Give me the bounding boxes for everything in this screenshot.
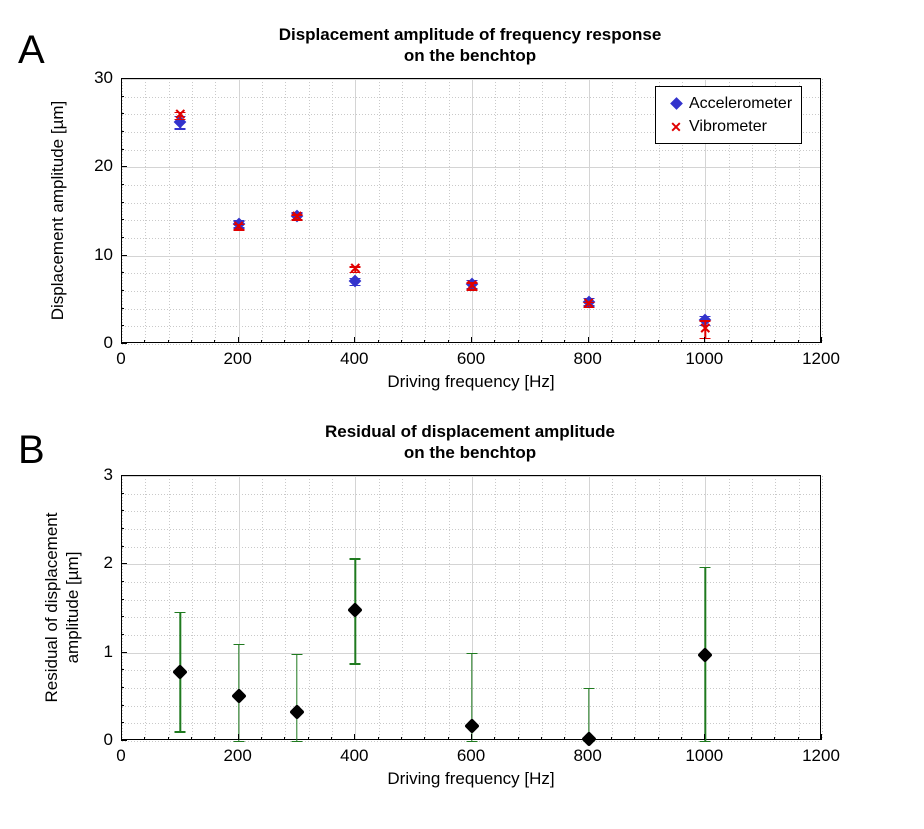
gridline-minor-horizontal — [122, 344, 820, 345]
gridline-minor-vertical — [332, 79, 333, 342]
gridline-minor-horizontal — [122, 582, 820, 583]
gridline-major-horizontal — [122, 79, 820, 80]
error-bar-cap-lower — [175, 128, 186, 129]
x-axis-tick — [238, 734, 239, 740]
gridline-minor-horizontal — [122, 494, 820, 495]
figure-root: A Displacement amplitude of frequency re… — [0, 0, 924, 829]
x-axis-tick-minor — [214, 737, 215, 740]
panel-a-title: Displacement amplitude of frequency resp… — [120, 24, 820, 67]
error-bar-cap-lower — [700, 741, 711, 742]
gridline-minor-vertical — [425, 79, 426, 342]
x-axis-tick-label: 1000 — [685, 349, 723, 369]
x-axis-tick — [354, 734, 355, 740]
x-axis-tick-minor — [728, 737, 729, 740]
gridline-minor-horizontal — [122, 617, 820, 618]
y-axis-tick-minor — [121, 510, 124, 511]
x-axis-tick-minor — [401, 737, 402, 740]
gridline-minor-vertical — [449, 79, 450, 342]
gridline-minor-vertical — [145, 79, 146, 342]
y-axis-tick-minor — [121, 581, 124, 582]
error-bar-cap-lower — [175, 731, 186, 732]
panel-b-title: Residual of displacement amplitude on th… — [120, 421, 820, 464]
gridline-minor-vertical — [682, 476, 683, 739]
data-point-vibrometer: ✕ — [349, 261, 362, 276]
x-axis-tick-minor — [518, 737, 519, 740]
y-axis-tick-minor — [121, 634, 124, 635]
panel-a-letter: A — [18, 30, 45, 70]
gridline-minor-vertical — [635, 476, 636, 739]
error-bar-cap-upper — [233, 644, 244, 645]
x-axis-tick-minor — [448, 340, 449, 343]
y-axis-tick-minor — [121, 219, 124, 220]
diamond-marker-icon — [663, 96, 689, 112]
y-axis-tick-minor — [121, 308, 124, 309]
error-bar-cap-upper — [350, 558, 361, 559]
x-axis-tick — [471, 734, 472, 740]
panel-b-xlabel: Driving frequency [Hz] — [121, 769, 821, 789]
data-point-residual — [231, 688, 247, 704]
x-axis-tick-minor — [751, 737, 752, 740]
error-bar-cap-lower — [467, 741, 478, 742]
error-bar-cap-lower — [233, 741, 244, 742]
x-axis-tick-minor — [611, 340, 612, 343]
x-axis-tick-minor — [728, 340, 729, 343]
gridline-minor-horizontal — [122, 238, 820, 239]
x-axis-tick — [588, 734, 589, 740]
y-axis-tick-minor — [121, 272, 124, 273]
data-point-vibrometer: ✕ — [291, 209, 304, 224]
x-axis-tick — [821, 734, 822, 740]
x-axis-tick-minor — [168, 737, 169, 740]
y-axis-tick-minor — [121, 166, 124, 167]
gridline-minor-vertical — [565, 79, 566, 342]
y-axis-tick-minor — [121, 722, 124, 723]
gridline-minor-vertical — [122, 79, 123, 342]
error-bar-cap-upper — [583, 688, 594, 689]
x-axis-tick-minor — [331, 737, 332, 740]
x-axis-tick-minor — [774, 340, 775, 343]
panel-b-ylabel: Residual of displacement amplitude [µm] — [42, 475, 83, 740]
y-axis-tick-minor — [121, 184, 124, 185]
x-axis-tick-minor — [798, 737, 799, 740]
panel-a-xlabel: Driving frequency [Hz] — [121, 372, 821, 392]
gridline-major-vertical — [355, 79, 356, 342]
gridline-minor-vertical — [822, 476, 823, 739]
gridline-minor-vertical — [402, 476, 403, 739]
gridline-minor-vertical — [379, 476, 380, 739]
data-point-vibrometer: ✕ — [466, 278, 479, 293]
gridline-minor-vertical — [752, 476, 753, 739]
y-axis-tick-minor — [121, 493, 124, 494]
y-axis-tick-label: 3 — [63, 465, 113, 485]
x-axis-tick-minor — [774, 737, 775, 740]
gridline-minor-horizontal — [122, 309, 820, 310]
y-axis-tick-minor — [121, 669, 124, 670]
y-axis-tick-minor — [121, 131, 124, 132]
y-axis-tick-label: 30 — [63, 68, 113, 88]
x-axis-tick-minor — [494, 737, 495, 740]
y-axis-tick-minor — [121, 616, 124, 617]
x-axis-tick-minor — [424, 737, 425, 740]
legend-item-accelerometer[interactable]: Accelerometer — [663, 92, 792, 115]
x-axis-tick-minor — [518, 340, 519, 343]
x-axis-tick-minor — [681, 340, 682, 343]
gridline-minor-horizontal — [122, 203, 820, 204]
gridline-minor-vertical — [799, 476, 800, 739]
gridline-minor-horizontal — [122, 511, 820, 512]
gridline-minor-vertical — [262, 476, 263, 739]
panel-a: A Displacement amplitude of frequency re… — [0, 0, 924, 414]
x-axis-tick-minor — [564, 737, 565, 740]
data-point-vibrometer: ✕ — [232, 219, 245, 234]
panel-b-ylabel-line2: amplitude [µm] — [63, 475, 84, 740]
panel-b-title-line1: Residual of displacement amplitude — [120, 421, 820, 442]
x-axis-tick-minor — [681, 737, 682, 740]
gridline-minor-vertical — [519, 476, 520, 739]
gridline-minor-vertical — [635, 79, 636, 342]
x-axis-tick-label: 1200 — [802, 746, 840, 766]
gridline-minor-vertical — [612, 79, 613, 342]
gridline-minor-vertical — [332, 476, 333, 739]
gridline-minor-horizontal — [122, 220, 820, 221]
gridline-minor-vertical — [122, 476, 123, 739]
x-marker-icon: ✕ — [663, 119, 689, 135]
gridline-minor-vertical — [309, 476, 310, 739]
x-axis-tick-label: 200 — [223, 349, 251, 369]
gridline-minor-horizontal — [122, 547, 820, 548]
error-bar-cap-lower — [292, 741, 303, 742]
gridline-major-horizontal — [122, 167, 820, 168]
y-axis-tick-minor — [121, 652, 124, 653]
gridline-minor-vertical — [822, 79, 823, 342]
gridline-minor-vertical — [192, 79, 193, 342]
x-axis-tick-minor — [541, 737, 542, 740]
panel-b: B Residual of displacement amplitude on … — [0, 414, 924, 829]
legend-label: Accelerometer — [689, 95, 792, 113]
x-axis-tick-label: 200 — [223, 746, 251, 766]
y-axis-tick-minor — [121, 475, 124, 476]
panel-b-title-line2: on the benchtop — [120, 442, 820, 463]
y-axis-tick-minor — [121, 687, 124, 688]
x-axis-tick-minor — [378, 737, 379, 740]
x-axis-tick-label: 600 — [457, 746, 485, 766]
gridline-minor-vertical — [565, 476, 566, 739]
x-axis-tick-minor — [261, 737, 262, 740]
x-axis-tick-minor — [448, 737, 449, 740]
x-axis-tick-minor — [751, 340, 752, 343]
x-axis-tick-minor — [331, 340, 332, 343]
data-point-residual — [348, 602, 364, 618]
gridline-minor-vertical — [285, 476, 286, 739]
data-point-vibrometer: ✕ — [699, 321, 712, 336]
gridline-minor-horizontal — [122, 635, 820, 636]
x-axis-tick-minor — [168, 340, 169, 343]
x-axis-tick-minor — [658, 737, 659, 740]
x-axis-tick-label: 0 — [116, 349, 125, 369]
gridline-minor-vertical — [519, 79, 520, 342]
x-axis-tick-minor — [191, 340, 192, 343]
panel-b-letter: B — [18, 430, 45, 470]
y-axis-tick-minor — [121, 325, 124, 326]
y-axis-tick-minor — [121, 599, 124, 600]
x-axis-tick-minor — [634, 737, 635, 740]
panel-a-title-line2: on the benchtop — [120, 45, 820, 66]
gridline-minor-horizontal — [122, 600, 820, 601]
y-axis-tick-label: 0 — [63, 333, 113, 353]
x-axis-tick-label: 400 — [340, 349, 368, 369]
gridline-minor-vertical — [379, 79, 380, 342]
x-axis-tick-minor — [284, 737, 285, 740]
gridline-minor-vertical — [215, 476, 216, 739]
x-axis-tick-label: 800 — [573, 349, 601, 369]
gridline-minor-vertical — [729, 476, 730, 739]
gridline-minor-vertical — [402, 79, 403, 342]
panel-b-plot-area — [121, 475, 821, 740]
y-axis-tick-minor — [121, 705, 124, 706]
x-axis-tick-minor — [308, 340, 309, 343]
x-axis-tick-label: 400 — [340, 746, 368, 766]
panel-a-legend: Accelerometer✕Vibrometer — [655, 86, 802, 144]
x-axis-tick-minor — [144, 340, 145, 343]
x-axis-tick-minor — [658, 340, 659, 343]
error-bar — [296, 654, 297, 741]
y-axis-tick-minor — [121, 237, 124, 238]
gridline-minor-vertical — [192, 476, 193, 739]
x-axis-tick-minor — [494, 340, 495, 343]
gridline-minor-horizontal — [122, 273, 820, 274]
gridline-minor-horizontal — [122, 150, 820, 151]
gridline-minor-vertical — [775, 476, 776, 739]
error-bar-cap-upper — [292, 654, 303, 655]
panel-a-ylabel: Displacement amplitude [µm] — [48, 78, 68, 343]
gridline-minor-vertical — [169, 79, 170, 342]
error-bar-cap-upper — [467, 653, 478, 654]
gridline-minor-vertical — [449, 476, 450, 739]
x-axis-tick — [354, 337, 355, 343]
data-point-residual — [581, 731, 597, 747]
data-point-vibrometer: ✕ — [582, 297, 595, 312]
gridline-major-vertical — [239, 79, 240, 342]
data-point-vibrometer: ✕ — [174, 108, 187, 123]
y-axis-tick-label: 20 — [63, 156, 113, 176]
gridline-minor-vertical — [542, 476, 543, 739]
x-axis-tick-label: 800 — [573, 746, 601, 766]
y-axis-tick-minor — [121, 96, 124, 97]
y-axis-tick-minor — [121, 740, 124, 741]
x-axis-tick-minor — [144, 737, 145, 740]
x-axis-tick — [704, 734, 705, 740]
gridline-minor-vertical — [542, 79, 543, 342]
x-axis-tick-label: 1000 — [685, 746, 723, 766]
x-axis-tick-minor — [541, 340, 542, 343]
x-axis-tick-minor — [308, 737, 309, 740]
gridline-minor-horizontal — [122, 326, 820, 327]
y-axis-tick-label: 0 — [63, 730, 113, 750]
y-axis-tick-minor — [121, 290, 124, 291]
gridline-minor-horizontal — [122, 529, 820, 530]
x-axis-tick-minor — [401, 340, 402, 343]
x-axis-tick-minor — [214, 340, 215, 343]
gridline-minor-vertical — [309, 79, 310, 342]
data-point-residual — [464, 718, 480, 734]
y-axis-tick-minor — [121, 202, 124, 203]
gridline-major-horizontal — [122, 256, 820, 257]
gridline-minor-vertical — [612, 476, 613, 739]
x-axis-tick — [238, 337, 239, 343]
x-axis-tick-minor — [564, 340, 565, 343]
gridline-minor-vertical — [145, 476, 146, 739]
x-axis-tick — [588, 337, 589, 343]
y-axis-tick-label: 10 — [63, 245, 113, 265]
x-axis-tick-minor — [611, 737, 612, 740]
gridline-minor-vertical — [425, 476, 426, 739]
y-axis-tick-minor — [121, 113, 124, 114]
x-axis-tick-minor — [261, 340, 262, 343]
data-point-residual — [698, 648, 714, 664]
gridline-minor-vertical — [495, 476, 496, 739]
y-axis-tick-minor — [121, 563, 124, 564]
legend-label: Vibrometer — [689, 118, 767, 136]
x-axis-tick-minor — [284, 340, 285, 343]
legend-item-vibrometer[interactable]: ✕Vibrometer — [663, 115, 792, 138]
gridline-major-vertical — [472, 79, 473, 342]
error-bar-cap-lower — [350, 663, 361, 664]
gridline-minor-vertical — [285, 79, 286, 342]
x-axis-tick — [704, 337, 705, 343]
y-axis-tick-minor — [121, 149, 124, 150]
y-axis-tick-minor — [121, 528, 124, 529]
x-axis-tick-label: 1200 — [802, 349, 840, 369]
x-axis-tick — [821, 337, 822, 343]
x-axis-tick-minor — [634, 340, 635, 343]
gridline-minor-vertical — [215, 79, 216, 342]
data-point-residual — [173, 664, 189, 680]
error-bar-cap-upper — [700, 567, 711, 568]
y-axis-tick-minor — [121, 78, 124, 79]
gridline-minor-vertical — [262, 79, 263, 342]
y-axis-tick-minor — [121, 255, 124, 256]
gridline-major-horizontal — [122, 476, 820, 477]
x-axis-tick-minor — [798, 340, 799, 343]
x-axis-tick — [471, 337, 472, 343]
x-axis-tick-minor — [378, 340, 379, 343]
x-axis-tick-minor — [191, 737, 192, 740]
error-bar-cap-upper — [175, 612, 186, 613]
x-axis-tick-label: 0 — [116, 746, 125, 766]
y-axis-tick-minor — [121, 343, 124, 344]
y-axis-tick-label: 1 — [63, 642, 113, 662]
error-bar-cap-lower — [700, 338, 711, 339]
panel-b-ylabel-line1: Residual of displacement — [42, 475, 63, 740]
gridline-minor-vertical — [659, 476, 660, 739]
y-axis-tick-label: 2 — [63, 553, 113, 573]
gridline-minor-vertical — [169, 476, 170, 739]
x-axis-tick-minor — [424, 340, 425, 343]
panel-a-title-line1: Displacement amplitude of frequency resp… — [120, 24, 820, 45]
y-axis-tick-minor — [121, 546, 124, 547]
gridline-minor-horizontal — [122, 185, 820, 186]
gridline-major-horizontal — [122, 564, 820, 565]
x-axis-tick-label: 600 — [457, 349, 485, 369]
gridline-minor-vertical — [495, 79, 496, 342]
